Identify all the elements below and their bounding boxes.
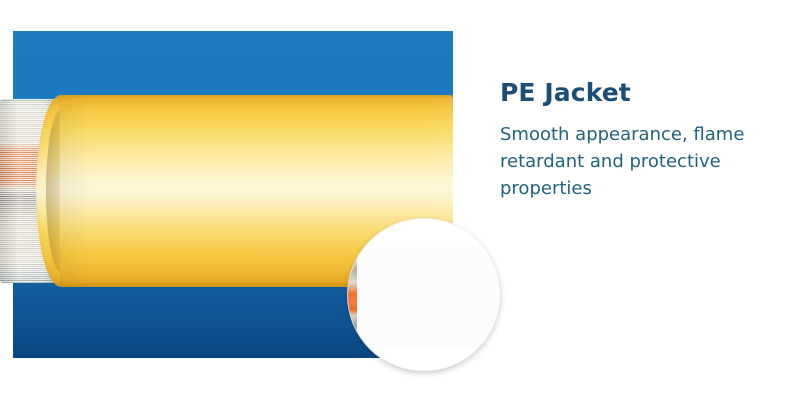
- magnified-fiber-strands: [348, 245, 357, 349]
- jacket-top-edge-shading: [60, 95, 453, 98]
- zoom-callout-circle: [348, 219, 500, 371]
- image-canvas: PE Jacket Smooth appearance, flame retar…: [0, 0, 811, 419]
- caption-block: PE Jacket Smooth appearance, flame retar…: [500, 78, 790, 202]
- caption-body: Smooth appearance, flame retardant and p…: [500, 121, 790, 202]
- magnified-jacket-surface: [348, 245, 500, 349]
- caption-title: PE Jacket: [500, 78, 790, 107]
